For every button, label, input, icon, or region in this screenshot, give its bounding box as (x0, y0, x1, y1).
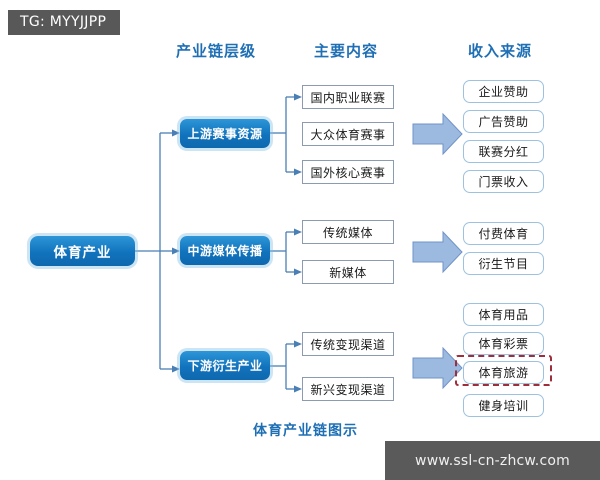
site-watermark-badge: www.ssl-cn-zhcw.com (385, 441, 600, 480)
revenue-box[interactable]: 付费体育 (463, 222, 544, 245)
column-header-value-chain-level: 产业链层级 (176, 40, 256, 61)
tg-watermark-badge: TG: MYYJJPP (8, 10, 120, 35)
content-box[interactable]: 传统变现渠道 (302, 332, 394, 356)
stage-node-downstream[interactable]: 下游衍生产业 (180, 351, 270, 380)
stage-node-upstream[interactable]: 上游赛事资源 (180, 119, 270, 148)
revenue-box[interactable]: 体育彩票 (463, 332, 544, 355)
content-box[interactable]: 国内职业联赛 (302, 85, 394, 109)
diagram-canvas: 产业链层级 主要内容 收入来源 体育产业 上游赛事资源 中游媒体传播 下游衍生产… (0, 0, 600, 480)
column-header-revenue-source: 收入来源 (468, 40, 532, 61)
content-box[interactable]: 新媒体 (302, 260, 394, 284)
upstream-content-arrowheads (294, 94, 302, 176)
revenue-box[interactable]: 健身培训 (463, 394, 544, 417)
root-node-sports-industry[interactable]: 体育产业 (30, 236, 135, 266)
diagram-caption: 体育产业链图示 (253, 420, 358, 440)
revenue-box[interactable]: 企业赞助 (463, 80, 544, 103)
content-box[interactable]: 大众体育赛事 (302, 122, 394, 146)
midstream-content-connectors (270, 232, 294, 272)
content-box[interactable]: 国外核心赛事 (302, 160, 394, 184)
root-branch-connectors (135, 133, 172, 369)
midstream-flow-arrow (413, 232, 462, 272)
downstream-flow-arrow (413, 348, 462, 388)
upstream-flow-arrow (413, 114, 462, 154)
midstream-content-arrowheads (294, 229, 302, 276)
content-box[interactable]: 新兴变现渠道 (302, 377, 394, 401)
revenue-box[interactable]: 体育用品 (463, 303, 544, 326)
revenue-box-highlighted[interactable]: 体育旅游 (463, 361, 544, 384)
column-header-main-content: 主要内容 (314, 40, 378, 61)
upstream-content-connectors (270, 97, 294, 172)
downstream-content-arrowheads (294, 341, 302, 393)
revenue-box[interactable]: 联赛分红 (463, 140, 544, 163)
revenue-box[interactable]: 门票收入 (463, 170, 544, 193)
revenue-box[interactable]: 衍生节目 (463, 252, 544, 275)
stage-node-midstream[interactable]: 中游媒体传播 (180, 236, 270, 265)
root-branch-arrowheads (172, 130, 180, 373)
content-box[interactable]: 传统媒体 (302, 220, 394, 244)
downstream-content-connectors (270, 344, 294, 389)
revenue-box[interactable]: 广告赞助 (463, 110, 544, 133)
